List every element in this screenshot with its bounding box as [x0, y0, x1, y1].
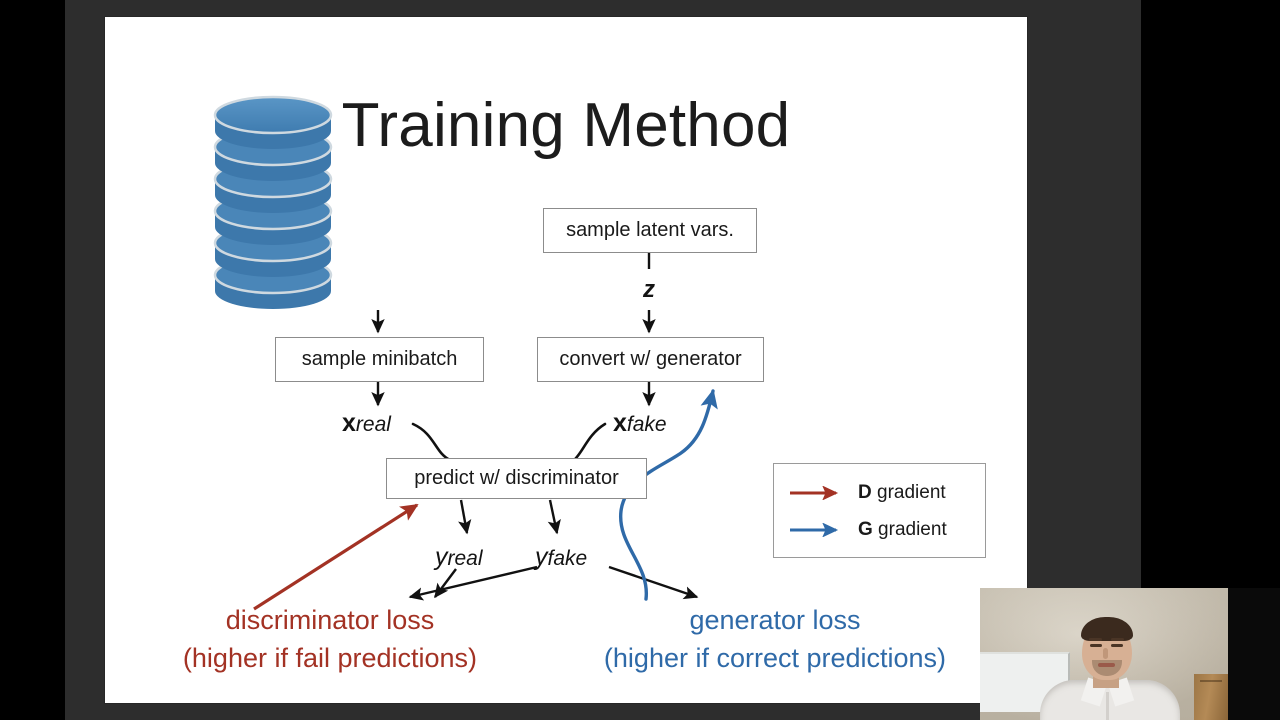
webcam-person-brow-right: [1111, 638, 1124, 641]
label-x-fake: xfake: [613, 409, 667, 438]
node-label: convert w/ generator: [559, 348, 741, 371]
caption-generator-loss: generator loss (higher if correct predic…: [525, 601, 1025, 677]
node-label: sample minibatch: [302, 348, 458, 371]
node-label: predict w/ discriminator: [414, 467, 619, 490]
legend-label-d-gradient: D gradient: [858, 482, 946, 504]
page-title: Training Method: [105, 90, 1027, 161]
label-x-fake-base: x: [613, 409, 627, 437]
node-sample-latent-vars[interactable]: sample latent vars.: [543, 208, 757, 253]
legend-text-d: gradient: [872, 482, 946, 503]
webcam-person-eye-left: [1090, 644, 1102, 647]
node-sample-minibatch[interactable]: sample minibatch: [275, 337, 484, 382]
webcam-person-mouth: [1098, 663, 1115, 667]
d-gradient-arrow: [254, 505, 417, 609]
video-player-screen: Training Method sample latent vars. z sa…: [0, 0, 1280, 720]
legend-text-g: gradient: [873, 519, 947, 540]
webcam-person-shirt-placket: [1106, 692, 1109, 720]
label-y-real-base: y: [435, 543, 448, 571]
caption-discriminator-loss-line2: (higher if fail predictions): [110, 639, 550, 677]
label-x-real-base: x: [342, 409, 356, 437]
arrow-right-blue-icon: [788, 523, 850, 537]
webcam-person-eye-right: [1111, 644, 1123, 647]
arrow-right-red-icon: [788, 486, 850, 500]
label-y-real-subscript: real: [448, 547, 483, 570]
legend-bold-d: D: [858, 482, 872, 503]
legend-item-g-gradient: G gradient: [774, 511, 985, 548]
node-convert-w-generator[interactable]: convert w/ generator: [537, 337, 764, 382]
label-x-fake-subscript: fake: [627, 413, 667, 436]
connector-xreal-to-discriminator: [413, 424, 450, 460]
label-x-real: xreal: [342, 409, 391, 438]
caption-discriminator-loss-line1: discriminator loss: [110, 601, 550, 639]
connector-yreal-to-dloss: [435, 569, 456, 597]
label-y-fake-subscript: fake: [548, 547, 588, 570]
label-x-real-subscript: real: [356, 413, 391, 436]
presenter-webcam-overlay[interactable]: [980, 588, 1280, 720]
caption-discriminator-loss: discriminator loss (higher if fail predi…: [110, 601, 550, 677]
caption-generator-loss-line1: generator loss: [525, 601, 1025, 639]
webcam-video-frame: [980, 588, 1228, 720]
webcam-cabinet-detail: [1200, 680, 1222, 682]
legend-bold-g: G: [858, 519, 873, 540]
legend-label-g-gradient: G gradient: [858, 519, 947, 541]
node-label: sample latent vars.: [566, 219, 734, 242]
presentation-slide: Training Method sample latent vars. z sa…: [105, 17, 1027, 703]
label-y-fake-base: y: [535, 543, 548, 571]
legend-item-d-gradient: D gradient: [774, 474, 985, 511]
connector-discriminator-to-yfake: [550, 500, 557, 533]
connector-xfake-to-discriminator: [573, 424, 605, 461]
connector-discriminator-to-yreal: [461, 500, 467, 533]
webcam-person-brow-left: [1089, 638, 1102, 641]
caption-generator-loss-line2: (higher if correct predictions): [525, 639, 1025, 677]
label-z: z: [543, 276, 755, 304]
label-y-fake: yfake: [535, 543, 587, 572]
label-y-real: yreal: [435, 543, 483, 572]
connector-yfake-to-gloss: [609, 567, 697, 597]
node-predict-w-discriminator[interactable]: predict w/ discriminator: [386, 458, 647, 499]
legend: D gradient G gradient: [773, 463, 986, 558]
webcam-person-nose: [1103, 648, 1108, 659]
